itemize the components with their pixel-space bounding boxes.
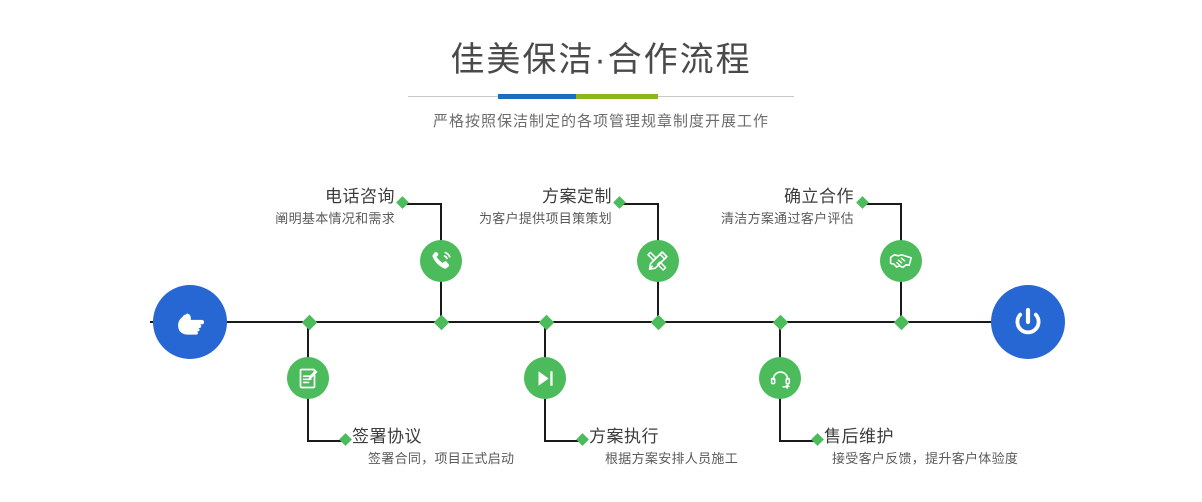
title-divider (408, 94, 794, 99)
step-2-desc: 签署合同，项目正式启动 (352, 448, 602, 470)
step-4-node-play-execute-icon[interactable] (524, 357, 566, 399)
axis-diamond-3 (539, 315, 555, 331)
thumbs-up-icon (170, 302, 210, 342)
step-1-title: 电话咨询 (150, 186, 395, 208)
axis-diamond-2 (434, 315, 450, 331)
step-5-label-diamond (856, 196, 869, 209)
timeline-start-thumbs-up-icon (153, 285, 227, 359)
step-3-horizontal-connector (621, 203, 659, 205)
axis-diamond-6 (894, 315, 910, 331)
play-execute-icon (533, 366, 558, 391)
step-3-desc: 为客户提供项目策策划 (366, 208, 612, 230)
step-3-node-pencil-ruler-icon[interactable] (637, 240, 679, 282)
step-1-horizontal-connector (404, 203, 442, 205)
step-1-node-phone-call-icon[interactable] (420, 240, 462, 282)
phone-call-icon (428, 248, 454, 274)
axis-diamond-5 (773, 315, 789, 331)
step-6-node-headset-support-icon[interactable] (759, 357, 801, 399)
step-6-label: 售后维护 接受客户反馈，提升客户体验度 (824, 426, 1094, 470)
divider-green-segment (576, 94, 658, 99)
step-5-node-handshake-icon[interactable] (880, 240, 922, 282)
flowchart-page: 佳美保洁·合作流程 严格按照保洁制定的各项管理规章制度开展工作 (0, 0, 1202, 502)
timeline-axis (150, 321, 1052, 323)
step-4-desc: 根据方案安排人员施工 (589, 448, 839, 470)
step-2-node-document-edit-icon[interactable] (287, 357, 329, 399)
headset-support-icon (768, 366, 793, 391)
step-2-label: 签署协议 签署合同，项目正式启动 (352, 426, 602, 470)
divider-blue-segment (498, 94, 576, 99)
step-5-label: 确立合作 清洁方案通过客户评估 (608, 186, 854, 230)
step-1-label: 电话咨询 阐明基本情况和需求 (150, 186, 395, 230)
step-2-title: 签署协议 (352, 426, 602, 448)
power-icon (1007, 301, 1049, 343)
pencil-ruler-icon (645, 248, 671, 274)
step-5-horizontal-connector (864, 203, 902, 205)
step-5-desc: 清洁方案通过客户评估 (608, 208, 854, 230)
step-6-title: 售后维护 (824, 426, 1094, 448)
document-edit-icon (296, 366, 321, 391)
page-subtitle: 严格按照保洁制定的各项管理规章制度开展工作 (0, 99, 1202, 131)
axis-diamond-1 (302, 315, 318, 331)
step-6-desc: 接受客户反馈，提升客户体验度 (824, 448, 1094, 470)
page-title: 佳美保洁·合作流程 (0, 0, 1202, 82)
page-header: 佳美保洁·合作流程 严格按照保洁制定的各项管理规章制度开展工作 (0, 0, 1202, 131)
axis-diamond-4 (651, 315, 667, 331)
step-2-label-diamond (339, 433, 352, 446)
step-4-title: 方案执行 (589, 426, 839, 448)
handshake-icon (888, 248, 914, 274)
timeline-end-power-icon (991, 285, 1065, 359)
step-1-desc: 阐明基本情况和需求 (150, 208, 395, 230)
step-4-label: 方案执行 根据方案安排人员施工 (589, 426, 839, 470)
